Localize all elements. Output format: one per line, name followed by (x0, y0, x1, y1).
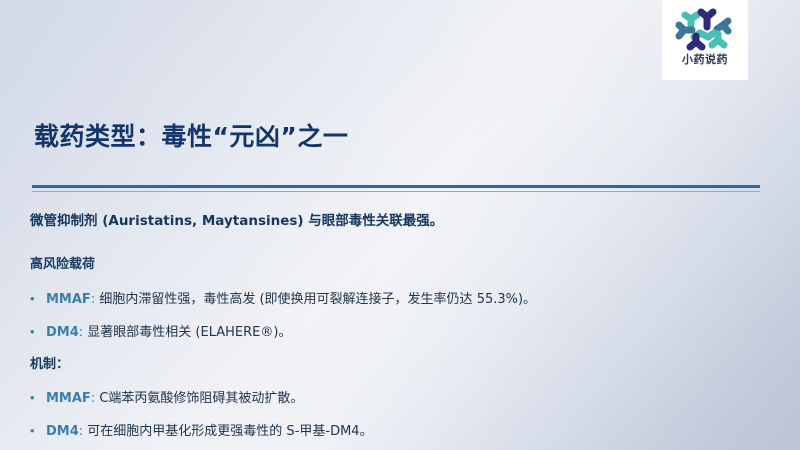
payload-term: DM4 (46, 424, 79, 439)
bullet-dot-icon: • (30, 325, 46, 338)
logo-container: 小药说药 (662, 0, 748, 80)
bullet-dot-icon: • (30, 391, 46, 404)
slide-canvas: 小药说药 载药类型：毒性“元凶”之一 微管抑制剂 (Auristatins, M… (0, 0, 800, 450)
section-heading-mechanism: 机制： (30, 358, 69, 371)
list-item: • MMAF: 细胞内滞留性强，毒性高发 (即使换用可裂解连接子，发生率仍达 5… (30, 292, 536, 306)
logo-caption: 小药说药 (682, 54, 728, 65)
molecule-logo-icon (674, 6, 736, 52)
list-item-text: DM4: 显著眼部毒性相关 (ELAHERE®)。 (46, 326, 291, 339)
list-item: • DM4: 可在细胞内甲基化形成更强毒性的 S-甲基-DM4。 (30, 424, 373, 438)
page-title: 载药类型：毒性“元凶”之一 (34, 124, 800, 149)
payload-term: MMAF (46, 391, 91, 406)
section-heading-high-risk: 高风险载荷 (30, 258, 95, 271)
list-item: • DM4: 显著眼部毒性相关 (ELAHERE®)。 (30, 325, 291, 339)
lead-statement: 微管抑制剂 (Auristatins, Maytansines) 与眼部毒性关联… (30, 215, 443, 229)
list-item-text: DM4: 可在细胞内甲基化形成更强毒性的 S-甲基-DM4。 (46, 425, 373, 438)
list-item: • MMAF: C端苯丙氨酸修饰阻碍其被动扩散。 (30, 391, 303, 405)
title-underline (32, 185, 760, 188)
title-underline-shadow (32, 191, 760, 192)
list-item-text: MMAF: C端苯丙氨酸修饰阻碍其被动扩散。 (46, 392, 303, 405)
payload-term: MMAF (46, 292, 91, 307)
list-item-detail: 细胞内滞留性强，毒性高发 (即使换用可裂解连接子，发生率仍达 55.3%)。 (95, 292, 536, 307)
bullet-dot-icon: • (30, 292, 46, 305)
list-item-detail: 显著眼部毒性相关 (ELAHERE®)。 (83, 325, 291, 340)
payload-term: DM4 (46, 325, 79, 340)
list-item-text: MMAF: 细胞内滞留性强，毒性高发 (即使换用可裂解连接子，发生率仍达 55.… (46, 293, 536, 306)
list-item-detail: 可在细胞内甲基化形成更强毒性的 S-甲基-DM4。 (83, 424, 372, 439)
list-item-detail: C端苯丙氨酸修饰阻碍其被动扩散。 (95, 391, 303, 406)
bullet-dot-icon: • (30, 424, 46, 437)
